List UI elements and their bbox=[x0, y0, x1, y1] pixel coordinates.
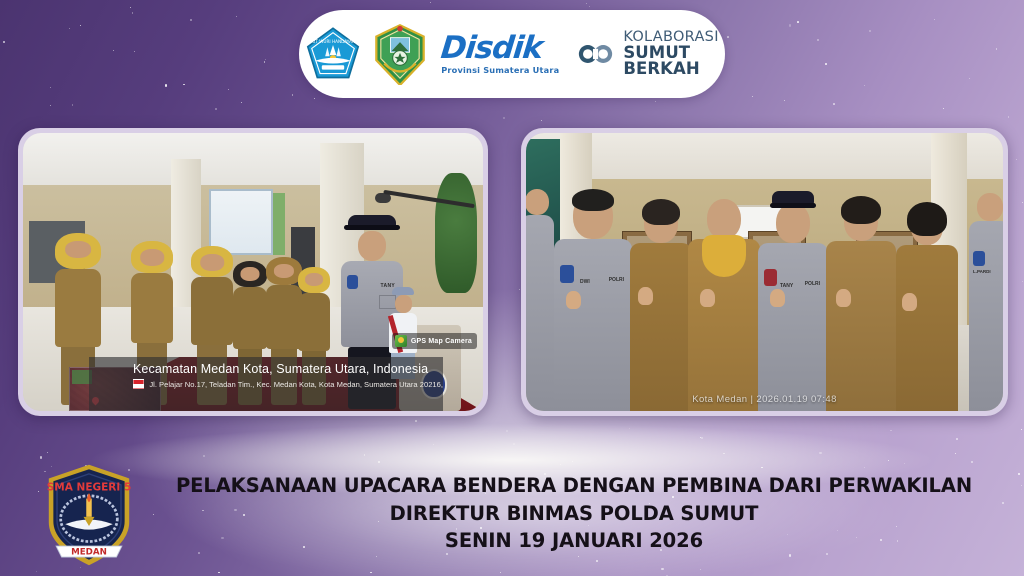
svg-text:SMA NEGERI 5: SMA NEGERI 5 bbox=[47, 481, 132, 493]
sumut-emblem-icon bbox=[371, 23, 429, 85]
photo-right-timestamp: Kota Medan | 2026.01.19 07:48 bbox=[526, 394, 1003, 405]
person-police-edge bbox=[526, 189, 554, 411]
svg-text:TUT WURI HANDAYANI: TUT WURI HANDAYANI bbox=[309, 39, 357, 44]
tut-wuri-handayani-logo: TUT WURI HANDAYANI bbox=[305, 26, 361, 82]
disdik-logo: Disdik Provinsi Sumatera Utara bbox=[441, 33, 559, 74]
caption-line-2: DIREKTUR BINMAS POLDA SUMUT bbox=[150, 500, 998, 528]
person-police-officer: DWI POLRI bbox=[554, 193, 632, 411]
gps-location-text: Kecamatan Medan Kota, Sumatera Utara, In… bbox=[133, 362, 443, 376]
photo-flag-ceremony[interactable]: TANY GPS Map Camera bbox=[18, 128, 488, 416]
sma-negeri-5-medan-crest: SMA NEGERI 5 MEDAN bbox=[43, 462, 135, 568]
person-police-edge: L.PARDI bbox=[969, 193, 1003, 411]
disdik-subtitle: Provinsi Sumatera Utara bbox=[441, 66, 559, 74]
person-teacher bbox=[630, 203, 692, 411]
sumatera-utara-provincial-emblem bbox=[371, 23, 429, 85]
tut-wuri-handayani-icon: TUT WURI HANDAYANI bbox=[305, 26, 361, 82]
person-teacher bbox=[826, 201, 896, 411]
person-policewoman-officer: TANY POLRI bbox=[758, 203, 828, 411]
gps-map-camera-icon bbox=[395, 335, 407, 347]
poster-canvas: TUT WURI HANDAYANI Disdik bbox=[0, 0, 1024, 576]
caption-line-3: SENIN 19 JANUARI 2026 bbox=[150, 527, 998, 555]
kolaborasi-line2: SUMUT BERKAH bbox=[623, 45, 718, 79]
caption-block: PELAKSANAAN UPACARA BENDERA DENGAN PEMBI… bbox=[150, 472, 998, 555]
person-teacher-hijab bbox=[688, 199, 760, 411]
kolaborasi-sumut-berkah-logo: KOLABORASI SUMUT BERKAH bbox=[575, 30, 718, 78]
header-logo-bar: TUT WURI HANDAYANI Disdik bbox=[299, 10, 725, 98]
school-crest-icon: SMA NEGERI 5 MEDAN bbox=[43, 462, 135, 568]
svg-text:MEDAN: MEDAN bbox=[71, 547, 107, 557]
gps-location-bar: Kecamatan Medan Kota, Sumatera Utara, In… bbox=[89, 357, 443, 411]
photo-group-greeting[interactable]: DWI POLRI bbox=[521, 128, 1008, 416]
infinity-loop-icon bbox=[575, 41, 616, 67]
gps-address-text: Jl. Pelajar No.17, Teladan Tim., Kec. Me… bbox=[149, 380, 443, 389]
disdik-title: Disdik bbox=[440, 33, 561, 64]
person-teacher bbox=[896, 207, 958, 411]
gps-map-camera-badge: GPS Map Camera bbox=[392, 333, 477, 349]
gps-brand-label: GPS Map Camera bbox=[411, 338, 472, 345]
caption-line-1: PELAKSANAAN UPACARA BENDERA DENGAN PEMBI… bbox=[150, 472, 998, 500]
indonesia-flag-icon bbox=[133, 379, 144, 389]
photo-right-scene: DWI POLRI bbox=[526, 133, 1003, 411]
